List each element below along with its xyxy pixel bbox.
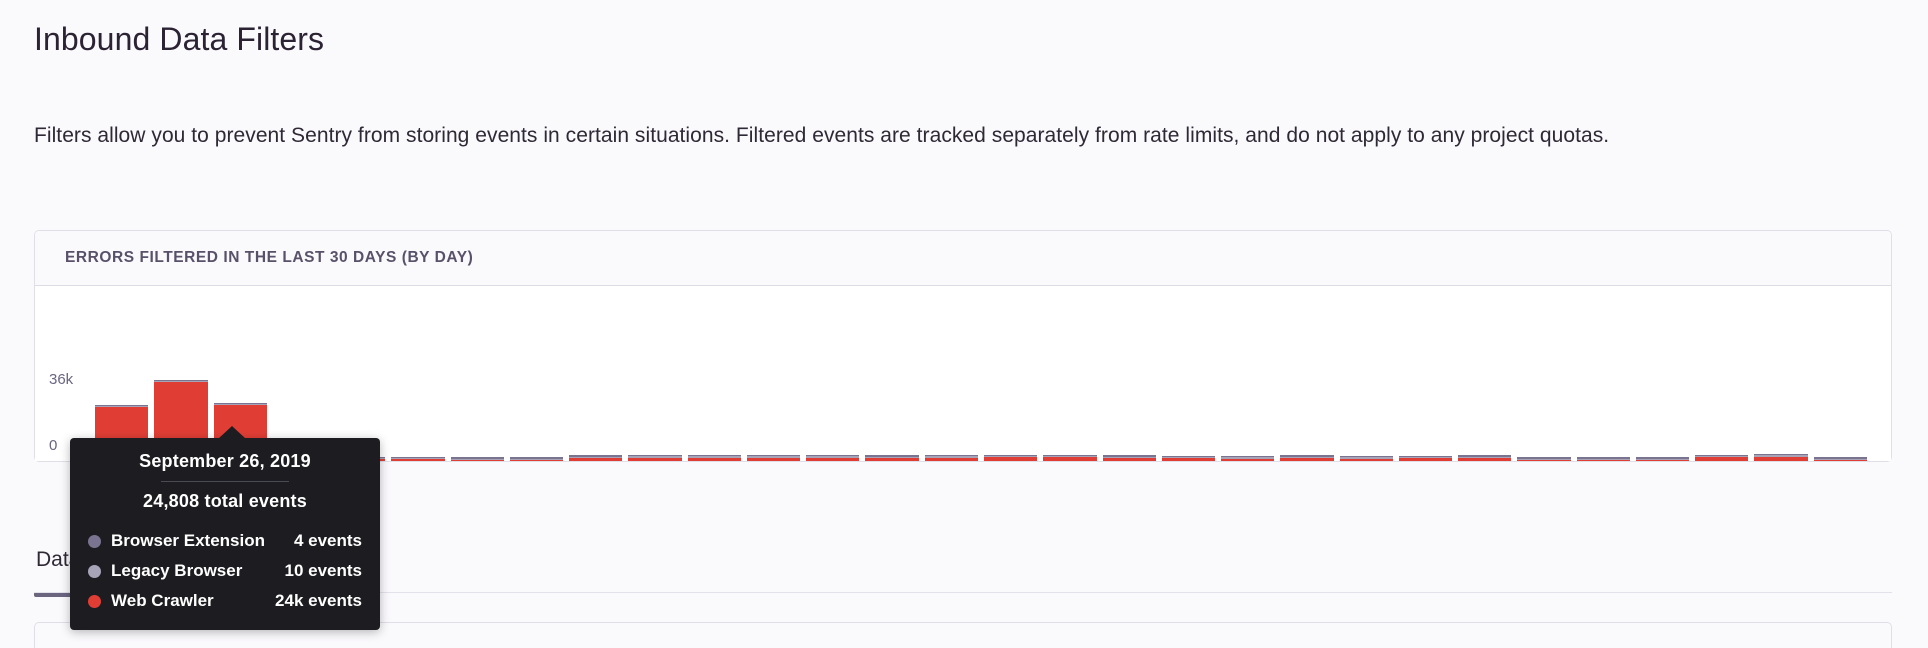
bar-segment [1517,460,1570,461]
bar-column[interactable] [1577,380,1630,461]
bar-column[interactable] [1636,380,1689,461]
bar-column[interactable] [1162,380,1215,461]
bar-column[interactable] [1517,380,1570,461]
bar-segment [451,460,504,461]
tooltip-row-value: 4 events [294,531,362,551]
chart-tooltip: September 26, 2019 24,808 total events B… [70,438,380,630]
bar-column[interactable] [1280,380,1333,461]
bar-segment [865,458,918,461]
bar-segment [1814,460,1867,461]
tooltip-date: September 26, 2019 [70,451,380,481]
bar-segment [1043,457,1096,461]
y-axis-max-label: 36k [49,371,73,388]
bar-column[interactable] [688,380,741,461]
tooltip-breakdown-list: Browser Extension4 eventsLegacy Browser1… [70,526,380,616]
bar-column[interactable] [1754,380,1807,461]
bar-segment [984,457,1037,461]
legend-dot-icon [88,595,101,608]
tooltip-divider [161,481,289,482]
tooltip-row-value: 10 events [285,561,363,581]
bar-column[interactable] [391,380,444,461]
chart-card-header: ERRORS FILTERED IN THE LAST 30 DAYS (BY … [35,231,1891,286]
bar-segment [510,460,563,461]
bar-segment [1399,458,1452,461]
bar-column[interactable] [1221,380,1274,461]
bar-segment [688,458,741,461]
tooltip-breakdown-row: Legacy Browser10 events [70,556,380,586]
bar-column[interactable] [1340,380,1393,461]
bar-column[interactable] [806,380,859,461]
tooltip-row-label: Browser Extension [111,531,265,551]
bar-segment [1162,458,1215,461]
bar-column[interactable] [747,380,800,461]
bar-segment [391,459,444,461]
bar-column[interactable] [569,380,622,461]
bar-column[interactable] [1814,380,1867,461]
legend-dot-icon [88,565,101,578]
page-title: Inbound Data Filters [34,19,324,59]
chart-plot-area: 36k 0 [35,286,1891,461]
bar-column[interactable] [628,380,681,461]
bar-column[interactable] [1043,380,1096,461]
bar-segment [806,458,859,461]
inbound-data-filters-page: Inbound Data Filters Filters allow you t… [0,0,1928,648]
bar-segment [925,458,978,461]
bar-column[interactable] [1103,380,1156,461]
bar-segment [569,458,622,461]
tooltip-row-label: Legacy Browser [111,561,242,581]
bar-segment [747,458,800,461]
bar-column[interactable] [865,380,918,461]
bar-segment [1458,458,1511,461]
bar-column[interactable] [451,380,504,461]
bar-column[interactable] [925,380,978,461]
bar-segment [1754,457,1807,462]
page-description: Filters allow you to prevent Sentry from… [34,117,1874,155]
tooltip-row-value: 24k events [275,591,362,611]
bar-segment [1577,460,1630,461]
bar-column[interactable] [1458,380,1511,461]
bar-segment [628,458,681,461]
tooltip-row-label: Web Crawler [111,591,214,611]
bar-segment [1636,460,1689,461]
bar-segment [1695,457,1748,461]
tooltip-breakdown-row: Browser Extension4 events [70,526,380,556]
bar-segment [1221,459,1274,461]
bar-column[interactable] [984,380,1037,461]
bar-segment [1103,458,1156,461]
bar-column[interactable] [510,380,563,461]
bar-column[interactable] [1695,380,1748,461]
tooltip-total-events: 24,808 total events [70,491,380,526]
y-axis-zero-label: 0 [49,437,57,454]
tooltip-arrow-icon [218,426,246,439]
errors-filtered-chart-card: ERRORS FILTERED IN THE LAST 30 DAYS (BY … [34,230,1892,462]
bar-segment [1280,458,1333,461]
legend-dot-icon [88,535,101,548]
tooltip-breakdown-row: Web Crawler24k events [70,586,380,616]
bar-segment [1340,459,1393,461]
chart-card-title: ERRORS FILTERED IN THE LAST 30 DAYS (BY … [65,249,473,267]
bar-column[interactable] [1399,380,1452,461]
